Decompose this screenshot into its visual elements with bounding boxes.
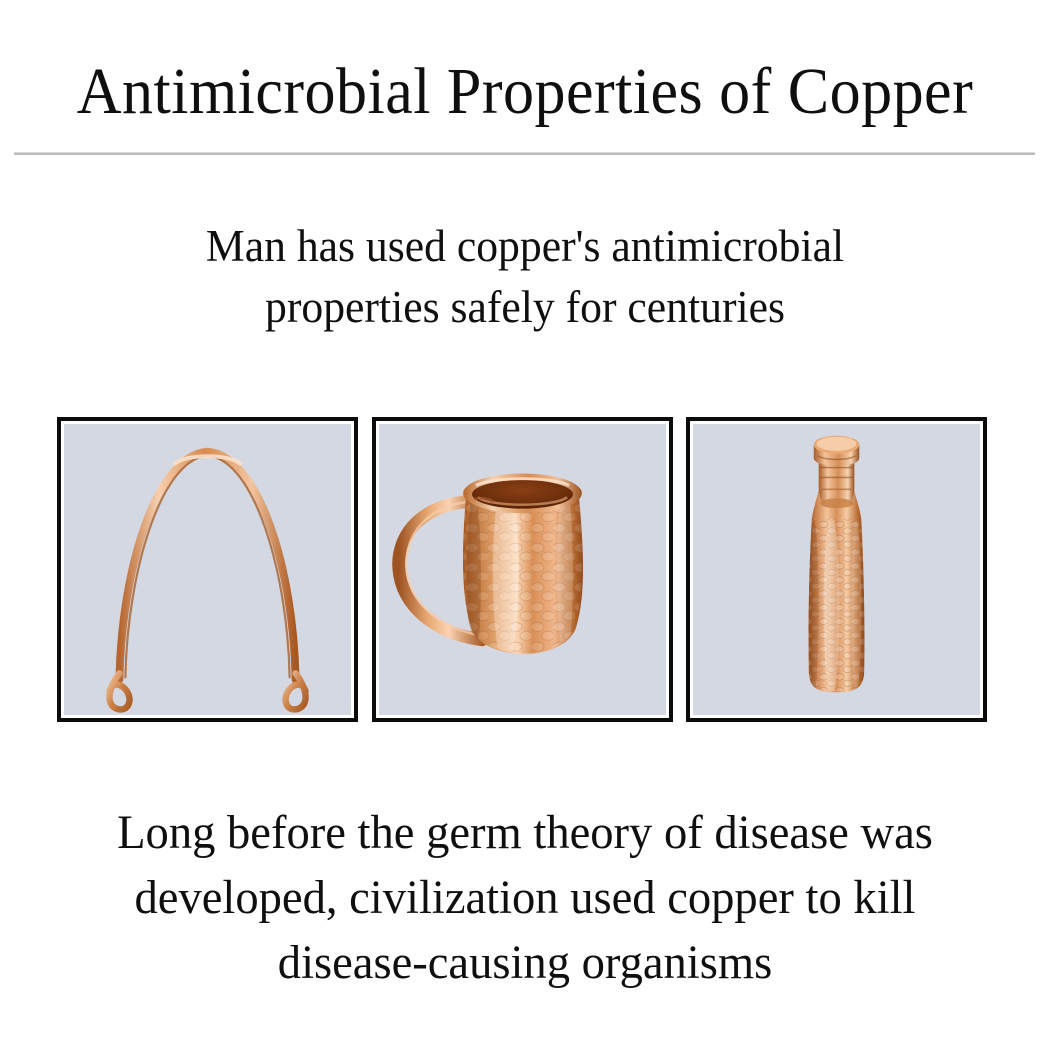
caption-text: Long before the germ theory of disease w… <box>0 800 1050 995</box>
subtitle-line-1: Man has used copper's antimicrobial <box>16 216 1035 277</box>
panel-inner-2 <box>379 424 666 715</box>
copper-tongue-cleaner-icon <box>64 424 351 715</box>
caption-line-1: Long before the germ theory of disease w… <box>16 800 1035 865</box>
image-panel-strip <box>57 417 987 722</box>
infographic-root: Antimicrobial Properties of Copper Man h… <box>0 0 1050 1050</box>
caption-line-3: disease-causing organisms <box>16 930 1035 995</box>
panel-inner-1 <box>64 424 351 715</box>
subtitle-line-2: properties safely for centuries <box>16 277 1035 338</box>
title-divider <box>14 152 1035 155</box>
copper-mug-icon <box>379 424 666 715</box>
panel-copper-mug <box>372 417 673 722</box>
panel-inner-3 <box>693 424 980 715</box>
title-block: Antimicrobial Properties of Copper <box>0 56 1050 128</box>
copper-bottle-icon <box>693 424 980 715</box>
page-title: Antimicrobial Properties of Copper <box>32 56 1019 128</box>
panel-copper-bottle <box>686 417 987 722</box>
panel-copper-tongue-cleaner <box>57 417 358 722</box>
caption-line-2: developed, civilization used copper to k… <box>16 865 1035 930</box>
subtitle-text: Man has used copper's antimicrobial prop… <box>0 216 1050 338</box>
